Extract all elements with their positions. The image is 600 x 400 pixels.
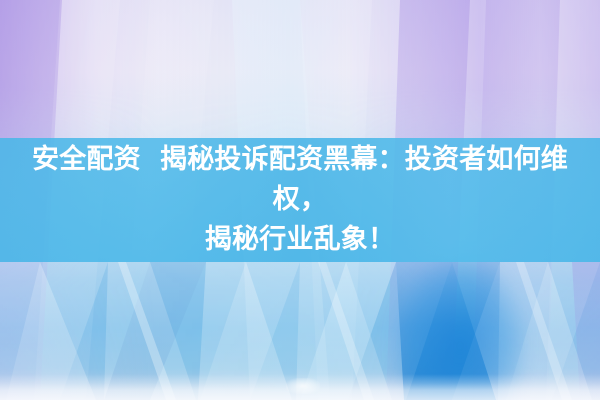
headline-line-1: 安全配资 揭秘投诉配资黑幕：投资者如何维权， bbox=[14, 140, 586, 220]
watermark bbox=[286, 378, 320, 394]
headline-line-2: 揭秘行业乱象！ bbox=[14, 220, 586, 260]
banner-graphic: 安全配资 揭秘投诉配资黑幕：投资者如何维权， 揭秘行业乱象！ bbox=[0, 0, 600, 400]
headline-band: 安全配资 揭秘投诉配资黑幕：投资者如何维权， 揭秘行业乱象！ bbox=[0, 138, 600, 262]
